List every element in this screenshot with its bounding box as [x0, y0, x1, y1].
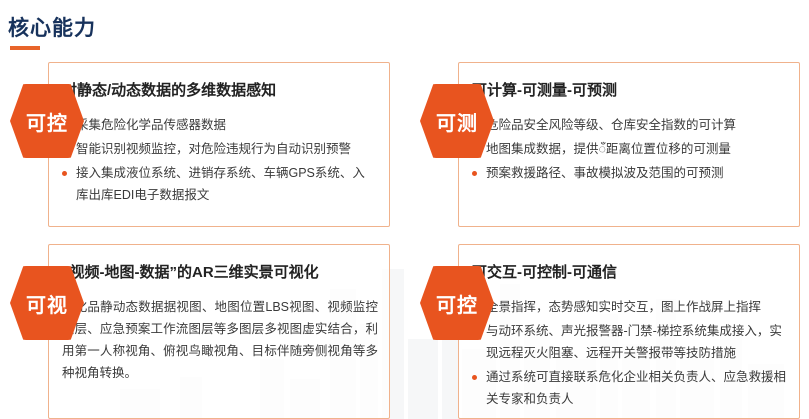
list-item: 接入集成液位系统、进销存系统、车辆GPS系统、入库出库EDI电子数据报文 [62, 162, 376, 206]
card-badge: 可视 [10, 266, 84, 340]
card-bullet-list: 危险品安全风险等级、仓库安全指数的可计算 地图集成数据，提供ँ距离位置位移的可测… [472, 114, 786, 186]
list-item: 预案救援路径、事故模拟波及范围的可预测 [472, 162, 786, 184]
list-item: 危险品安全风险等级、仓库安全指数的可计算 [472, 114, 786, 136]
card-badge: 可控 [10, 84, 84, 158]
card-heading: 对静态/动态数据的多维数据感知 [62, 80, 376, 102]
list-item: 与动环系统、声光报警器-门禁-梯控系统集成接入，实现远程灭火阻塞、远程开关警报带… [472, 320, 786, 364]
capability-card-4: 可控 可交互-可控制-可通信 全景指挥，态势感知实时交互，图上作战屏上指挥 与动… [420, 244, 800, 419]
list-item: 全景指挥，态势感知实时交互，图上作战屏上指挥 [472, 296, 786, 318]
card-heading: “视频-地图-数据”的AR三维实景可视化 [62, 262, 376, 284]
capability-card-1: 可控 对静态/动态数据的多维数据感知 采集危险化学品传感器数据 智能识别视频监控… [10, 62, 390, 227]
list-item: 地图集成数据，提供ँ距离位置位移的可测量 [472, 138, 786, 160]
list-item: 采集危险化学品传感器数据 [62, 114, 376, 136]
card-bullet-list: 采集危险化学品传感器数据 智能识别视频监控，对危险违规行为自动识别预警 接入集成… [62, 114, 376, 208]
list-item: 智能识别视频监控，对危险违规行为自动识别预警 [62, 138, 376, 160]
capability-cards: 可控 对静态/动态数据的多维数据感知 采集危险化学品传感器数据 智能识别视频监控… [0, 62, 809, 419]
page-title: 核心能力 [8, 12, 96, 42]
card-bullet-list: 全景指挥，态势感知实时交互，图上作战屏上指挥 与动环系统、声光报警器-门禁-梯控… [472, 296, 786, 412]
card-badge: 可控 [420, 266, 494, 340]
card-badge: 可测 [420, 84, 494, 158]
list-item: 通过系统可直接联系危化企业相关负责人、应急救援相关专家和负责人 [472, 366, 786, 410]
card-heading: 可交互-可控制-可通信 [472, 262, 786, 284]
title-underline [10, 46, 40, 50]
card-paragraph: 危化品静动态数据据视图、地图位置LBS视图、视频监控图层、应急预案工作流图层等多… [62, 296, 378, 384]
card-heading: 可计算-可测量-可预测 [472, 80, 786, 102]
capability-card-3: 可视 “视频-地图-数据”的AR三维实景可视化 危化品静动态数据据视图、地图位置… [10, 244, 390, 419]
capability-card-2: 可测 可计算-可测量-可预测 危险品安全风险等级、仓库安全指数的可计算 地图集成… [420, 62, 800, 227]
